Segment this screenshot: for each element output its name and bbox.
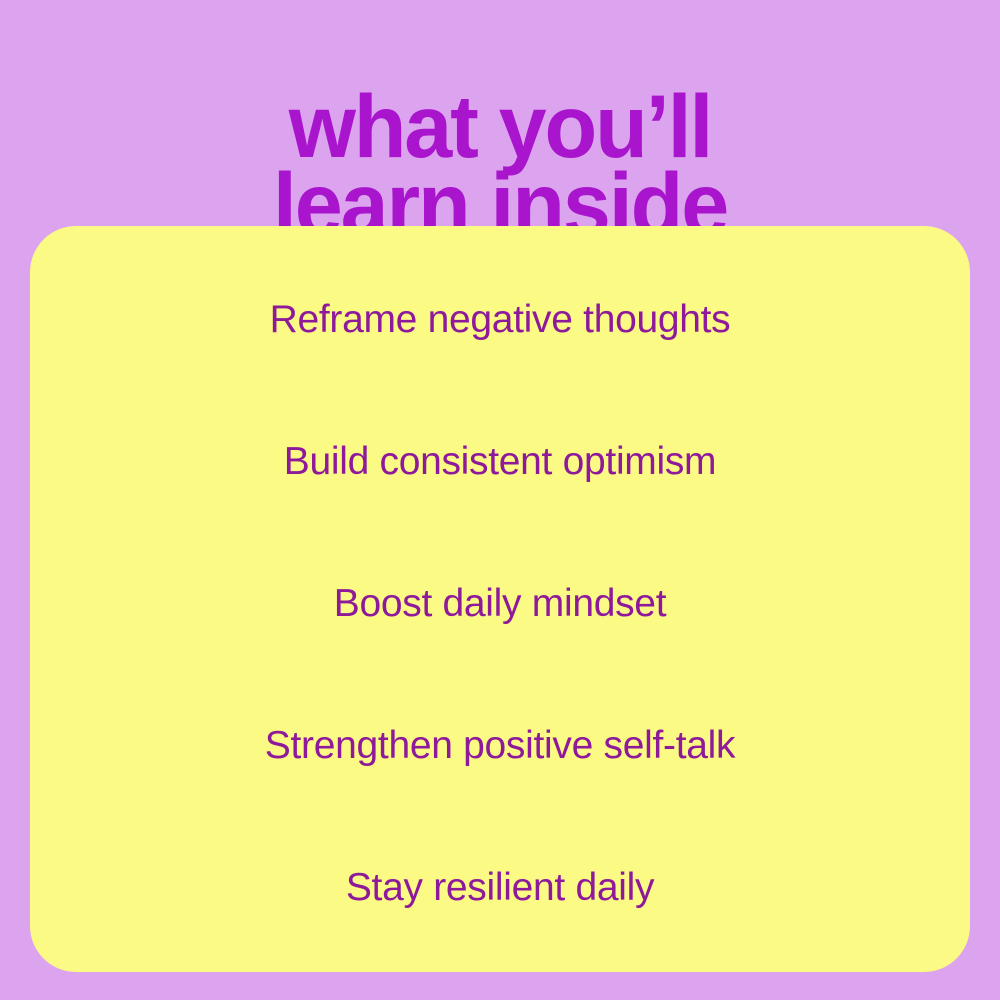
- benefits-card: Reframe negative thoughts Build consiste…: [30, 226, 970, 972]
- list-item: Reframe negative thoughts: [30, 290, 970, 432]
- list-item: Strengthen positive self-talk: [30, 716, 970, 858]
- list-item: Stay resilient daily: [30, 858, 970, 1000]
- benefits-list: Reframe negative thoughts Build consiste…: [30, 290, 970, 1000]
- page-title: what you’ll learn inside: [15, 87, 985, 243]
- poster-canvas: what you’ll learn inside Reframe negativ…: [0, 0, 1000, 1000]
- list-item: Boost daily mindset: [30, 574, 970, 716]
- list-item: Build consistent optimism: [30, 432, 970, 574]
